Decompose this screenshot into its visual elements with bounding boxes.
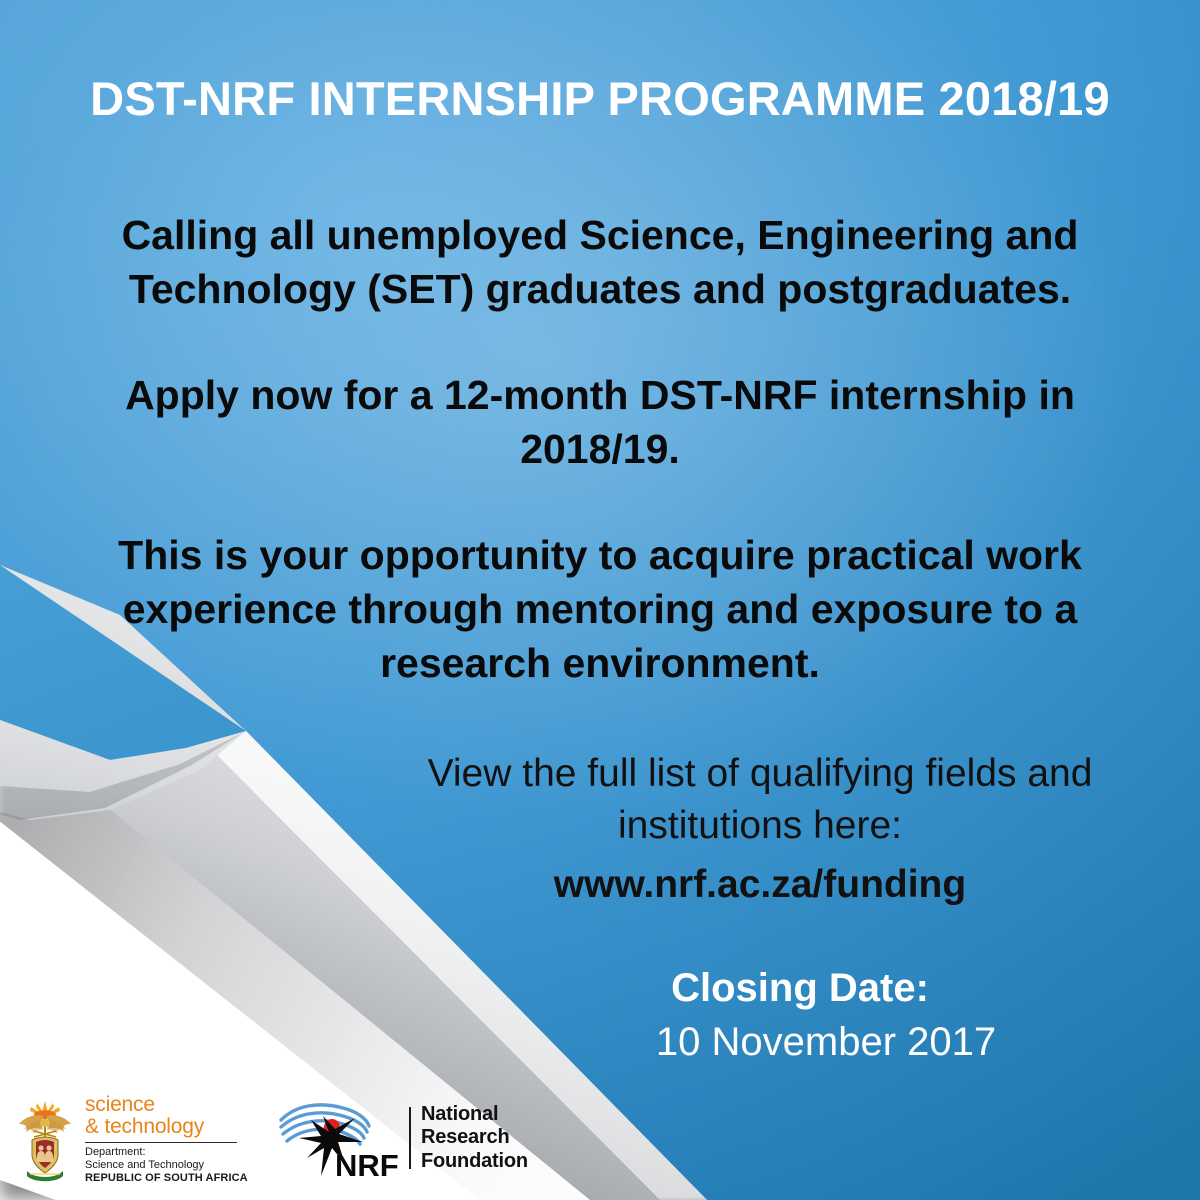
qualifying-fields-block: View the full list of qualifying fields … (350, 748, 1170, 911)
nrf-logo-text: National Research Foundation (421, 1103, 528, 1173)
dst-title-line2: & technology (85, 1116, 248, 1138)
dst-logo: science & technology Department: Science… (14, 1094, 248, 1186)
nrf-name-line1: National (421, 1103, 528, 1126)
dst-logo-divider (85, 1142, 237, 1143)
body-paragraph-3: This is your opportunity to acquire prac… (60, 528, 1140, 690)
nrf-name-line2: Research (421, 1126, 528, 1149)
nrf-star-figure-icon: NRF (277, 1096, 399, 1180)
closing-date-value: 10 November 2017 (430, 1016, 1170, 1068)
closing-date-block: Closing Date: 10 November 2017 (430, 962, 1170, 1068)
dst-logo-text: science & technology Department: Science… (85, 1094, 248, 1186)
body-paragraph-2: Apply now for a 12-month DST-NRF interns… (60, 368, 1140, 476)
nrf-name-line3: Foundation (421, 1150, 528, 1173)
dst-sub-line3: REPUBLIC OF SOUTH AFRICA (85, 1172, 248, 1185)
poster-content: DST-NRF INTERNSHIP PROGRAMME 2018/19 Cal… (0, 0, 1200, 1200)
south-african-coat-of-arms-icon (14, 1097, 76, 1183)
nrf-funding-link[interactable]: www.nrf.ac.za/funding (350, 859, 1170, 911)
footer-logos: science & technology Department: Science… (0, 1082, 1200, 1200)
closing-date-label: Closing Date: (430, 962, 1170, 1014)
body-paragraph-1: Calling all unemployed Science, Engineer… (60, 208, 1140, 316)
poster-canvas: DST-NRF INTERNSHIP PROGRAMME 2018/19 Cal… (0, 0, 1200, 1200)
nrf-logo-divider (409, 1107, 411, 1169)
nrf-logo: NRF National Research Foundation (277, 1096, 528, 1180)
dst-title-line1: science (85, 1094, 248, 1116)
dst-sub-line2: Science and Technology (85, 1159, 248, 1172)
page-title: DST-NRF INTERNSHIP PROGRAMME 2018/19 (0, 74, 1200, 123)
link-intro-text: View the full list of qualifying fields … (428, 752, 1093, 847)
svg-text:NRF: NRF (335, 1148, 399, 1180)
dst-sub-line1: Department: (85, 1146, 248, 1159)
